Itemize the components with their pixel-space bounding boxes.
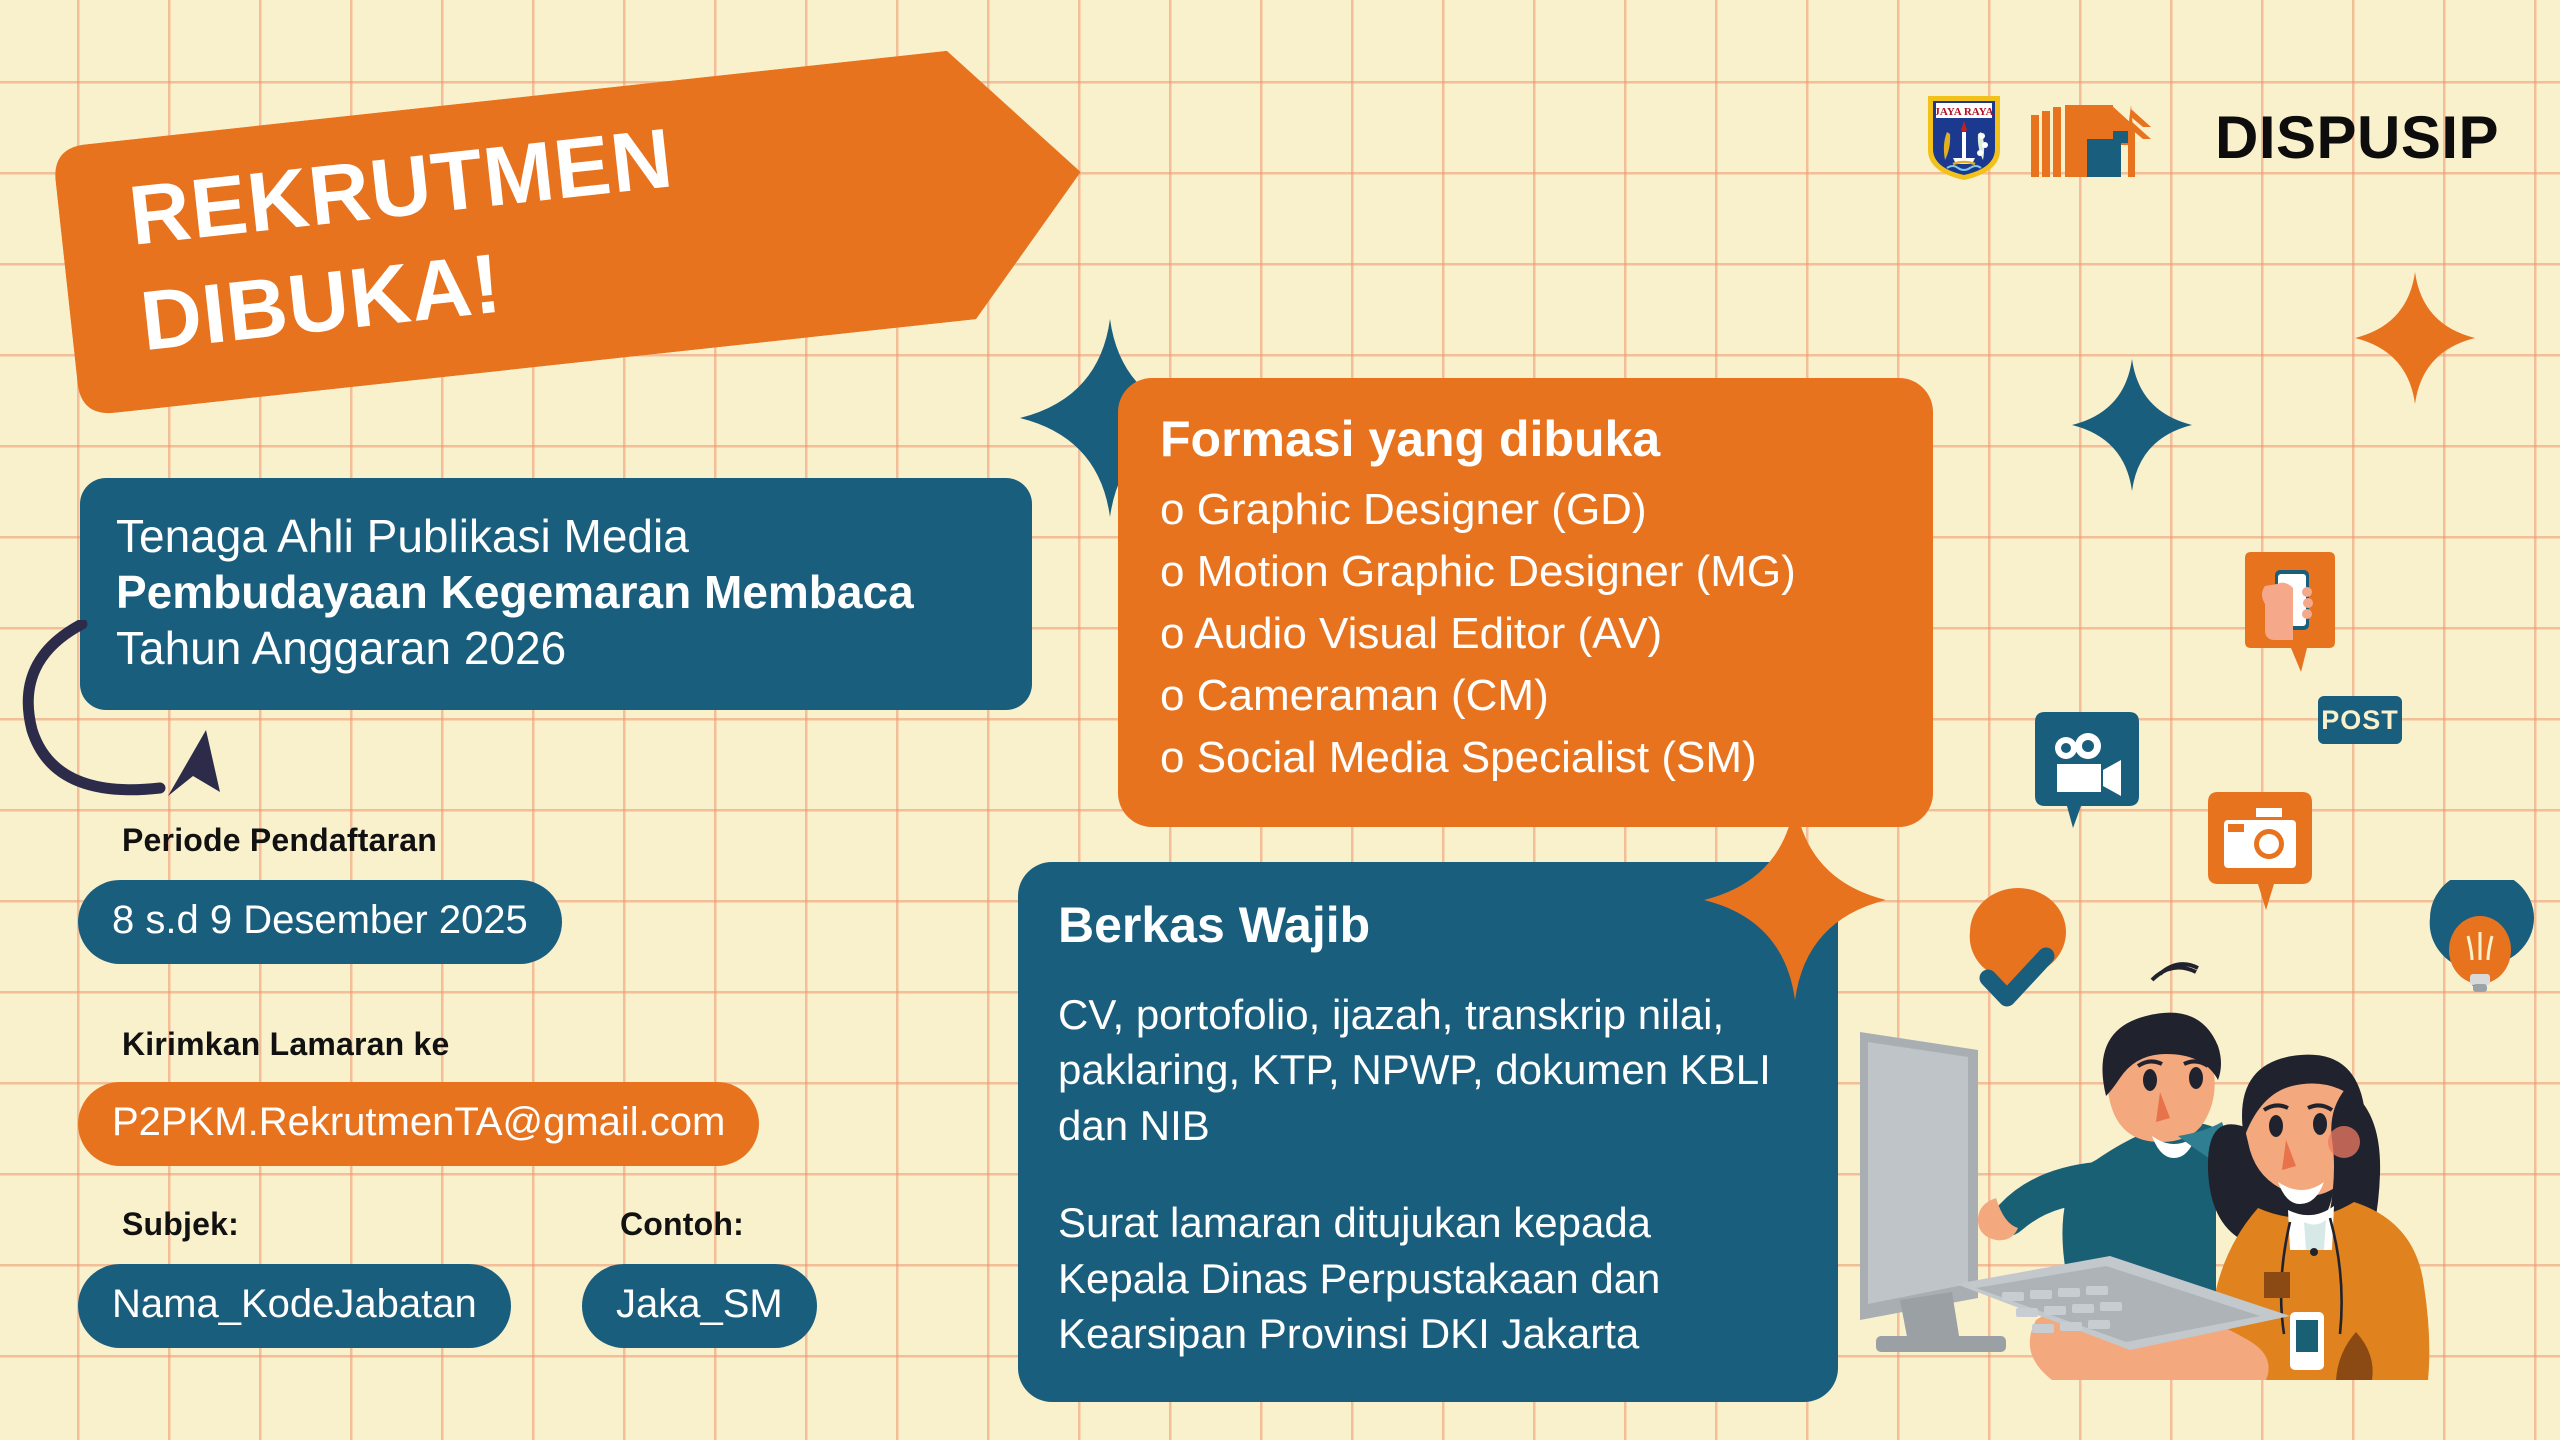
subjek-format-value: Nama_KodeJabatan	[78, 1264, 511, 1348]
berkas-addressee-line-2: Kepala Dinas Perpustakaan dan	[1058, 1251, 1798, 1306]
periode-pendaftaran-label: Periode Pendaftaran	[122, 822, 437, 859]
berkas-addressee-line-3: Kearsipan Provinsi DKI Jakarta	[1058, 1306, 1798, 1361]
subjek-label: Subjek:	[122, 1206, 239, 1243]
checkmark-bubble-icon	[1970, 888, 2066, 998]
berkas-doc-line-2: paklaring, KTP, NPWP, dokumen KBLI	[1058, 1042, 1798, 1097]
kirimkan-lamaran-label: Kirimkan Lamaran ke	[122, 1026, 450, 1063]
dki-jakarta-emblem: JAYA RAYA	[1925, 92, 2003, 182]
berkas-doc-line-1: CV, portofolio, ijazah, transkrip nilai,	[1058, 987, 1798, 1042]
phone-in-hand-bubble-icon	[2245, 552, 2335, 672]
headline-banner-shape	[52, 38, 1095, 417]
curved-arrow-icon	[10, 620, 340, 820]
dispusip-wordmark: DISPUSIP	[2215, 103, 2499, 172]
formasi-title: Formasi yang dibuka	[1160, 412, 1893, 467]
contoh-label: Contoh:	[620, 1206, 744, 1243]
formasi-item-mg: o Motion Graphic Designer (MG)	[1160, 541, 1893, 603]
formasi-panel: Formasi yang dibuka o Graphic Designer (…	[1118, 378, 1933, 827]
two-people-at-computer-illustration	[1860, 880, 2560, 1380]
recruitment-poster: JAYA RAYA DISPUSIP	[0, 0, 2560, 1440]
email-address-value[interactable]: P2PKM.RekrutmenTA@gmail.com	[78, 1082, 759, 1166]
sparkle-orange-berkas-icon	[1700, 800, 1890, 1000]
computer-monitor	[1860, 1032, 2006, 1352]
dispusip-book-mark-icon	[2029, 95, 2177, 179]
video-camera-bubble-icon	[2035, 712, 2139, 828]
post-badge-label: POST	[2321, 705, 2399, 736]
subtitle-line-1: Tenaga Ahli Publikasi Media	[116, 508, 996, 564]
berkas-wajib-title: Berkas Wajib	[1058, 898, 1798, 953]
svg-text:JAYA RAYA: JAYA RAYA	[1934, 106, 1993, 118]
header-logo-row: JAYA RAYA DISPUSIP	[1925, 92, 2499, 182]
berkas-addressee-line-1: Surat lamaran ditujukan kepada	[1058, 1195, 1798, 1250]
berkas-doc-line-3: dan NIB	[1058, 1098, 1798, 1153]
subtitle-line-2: Pembudayaan Kegemaran Membaca	[116, 564, 996, 620]
post-badge: POST	[2318, 696, 2402, 744]
sparkle-blue-top-right-icon	[2072, 355, 2192, 495]
lightbulb-bubble-icon	[2430, 880, 2534, 992]
formasi-item-av: o Audio Visual Editor (AV)	[1160, 603, 1893, 665]
formasi-item-gd: o Graphic Designer (GD)	[1160, 479, 1893, 541]
periode-pendaftaran-value: 8 s.d 9 Desember 2025	[78, 880, 562, 964]
berkas-paragraph-gap	[1058, 1153, 1798, 1195]
contoh-example-value: Jaka_SM	[582, 1264, 817, 1348]
formasi-item-sm: o Social Media Specialist (SM)	[1160, 727, 1893, 789]
formasi-item-cm: o Cameraman (CM)	[1160, 665, 1893, 727]
sparkle-orange-top-right-icon	[2355, 268, 2475, 408]
